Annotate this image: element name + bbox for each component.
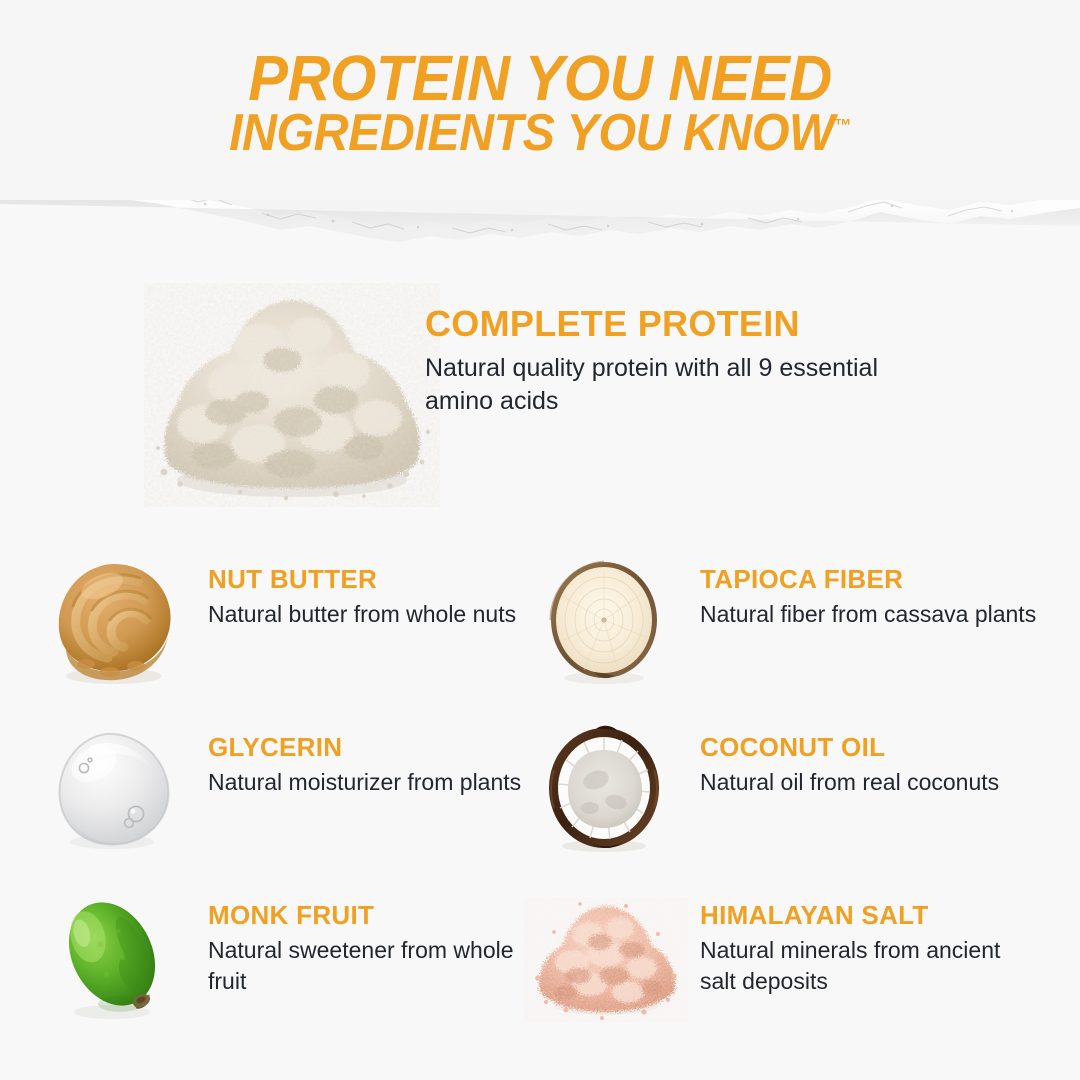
hero-title: COMPLETE PROTEIN <box>425 305 945 343</box>
ingredient-item-coconut-oil: COCONUT OIL Natural oil from real coconu… <box>532 720 1022 870</box>
ingredient-description: Natural butter from whole nuts <box>208 599 528 630</box>
ingredient-infographic: PROTEIN YOU NEED INGREDIENTS YOU KNOW™ <box>0 0 1080 1080</box>
ingredient-description: Natural sweetener from whole fruit <box>208 935 528 996</box>
hero-text-block: COMPLETE PROTEIN Natural quality protein… <box>425 305 945 418</box>
monk-fruit-image <box>40 888 190 1028</box>
coconut-half-image <box>532 720 682 860</box>
ingredient-text-block: MONK FRUIT Natural sweetener from whole … <box>208 902 528 996</box>
ingredient-name: COCONUT OIL <box>700 734 1040 761</box>
ingredient-description: Natural oil from real coconuts <box>700 767 1040 798</box>
ingredient-name: TAPIOCA FIBER <box>700 566 1040 593</box>
ingredient-item-nut-butter: NUT BUTTER Natural butter from whole nut… <box>40 552 530 702</box>
headline-line-1: PROTEIN YOU NEED <box>38 47 1042 110</box>
ingredient-item-glycerin: GLYCERIN Natural moisturizer from plants <box>40 720 530 870</box>
ingredient-text-block: NUT BUTTER Natural butter from whole nut… <box>208 566 528 630</box>
ingredient-text-block: HIMALAYAN SALT Natural minerals from anc… <box>700 902 1040 996</box>
protein-powder-mound-image <box>140 272 440 522</box>
hero-description: Natural quality protein with all 9 essen… <box>425 352 885 418</box>
ingredient-grid: NUT BUTTER Natural butter from whole nut… <box>0 552 1080 1052</box>
ingredient-item-tapioca-fiber: TAPIOCA FIBER Natural fiber from cassava… <box>532 552 1022 702</box>
glycerin-gel-droplet-image <box>40 720 190 860</box>
ingredient-description: Natural minerals from ancient salt depos… <box>700 935 1040 996</box>
ingredient-item-himalayan-salt: HIMALAYAN SALT Natural minerals from anc… <box>532 888 1022 1038</box>
ingredient-item-monk-fruit: MONK FRUIT Natural sweetener from whole … <box>40 888 530 1038</box>
hero-ingredient-complete-protein: COMPLETE PROTEIN Natural quality protein… <box>0 272 1080 522</box>
ingredient-description: Natural fiber from cassava plants <box>700 599 1040 630</box>
ingredient-text-block: TAPIOCA FIBER Natural fiber from cassava… <box>700 566 1040 630</box>
headline-line-2: INGREDIENTS YOU KNOW™ <box>38 108 1042 159</box>
ingredient-description: Natural moisturizer from plants <box>208 767 528 798</box>
nut-butter-swirl-image <box>40 552 190 692</box>
ingredient-name: GLYCERIN <box>208 734 528 761</box>
ingredient-name: NUT BUTTER <box>208 566 528 593</box>
ingredient-text-block: COCONUT OIL Natural oil from real coconu… <box>700 734 1040 798</box>
header-banner: PROTEIN YOU NEED INGREDIENTS YOU KNOW™ <box>0 0 1080 200</box>
ingredient-name: MONK FRUIT <box>208 902 528 929</box>
headline-line-2-text: INGREDIENTS YOU KNOW <box>229 104 834 162</box>
ingredient-text-block: GLYCERIN Natural moisturizer from plants <box>208 734 528 798</box>
tapioca-cassava-slice-image <box>532 552 682 692</box>
trademark-symbol: ™ <box>834 116 851 136</box>
ingredient-name: HIMALAYAN SALT <box>700 902 1040 929</box>
himalayan-pink-salt-mound-image <box>532 888 682 1028</box>
